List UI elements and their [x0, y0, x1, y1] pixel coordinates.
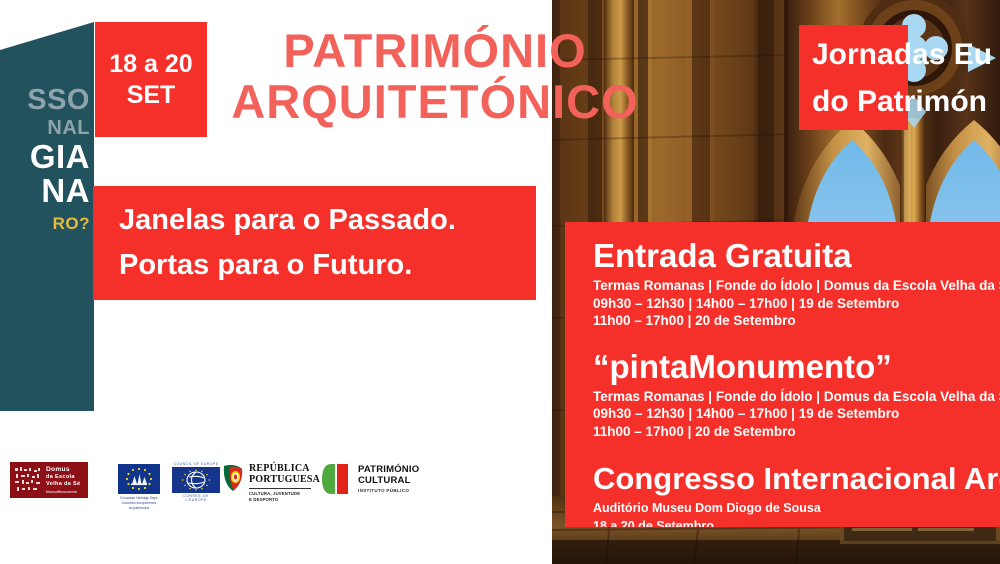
- republica-divider: [249, 488, 311, 489]
- entrada-gratuita-heading: Entrada Gratuita: [593, 238, 1000, 275]
- patrimonio-line-3: INSTITUTO PÚBLICO: [358, 488, 419, 493]
- spacer-1: [593, 330, 1000, 349]
- spacer-2: [593, 440, 1000, 462]
- coe-label-bottom: CONSEIL DE L'EUROPE: [172, 494, 220, 502]
- pintamonumento-hours-2: 11h00 – 17h00 | 20 de Setembro: [593, 423, 1000, 441]
- domus-line-2: da Escola: [46, 474, 80, 481]
- patrimonio-line-1: PATRIMÓNIO: [358, 465, 419, 476]
- republica-logo-text: REPÚBLICA PORTUGUESA CULTURA, JUVENTUDE …: [249, 464, 320, 503]
- portugal-shield-icon: [222, 464, 244, 492]
- republica-line-2: PORTUGUESA: [249, 475, 320, 486]
- logo-domus-escola-velha-da-se: Domus da Escola Velha da Sé Museu/Monume…: [10, 462, 88, 498]
- side-text-line-3: GIA: [0, 140, 90, 174]
- patrimonio-cultural-mark-icon: [322, 464, 352, 494]
- coe-flag-icon: [172, 467, 220, 493]
- main-title-line-2: ARQUITETÓNICO: [110, 77, 760, 128]
- patrimonio-cultural-text: PATRIMÓNIO CULTURAL INSTITUTO PÚBLICO: [358, 465, 419, 493]
- domus-mosaic-icon: [13, 465, 43, 495]
- republica-line-4: E DESPORTO: [249, 497, 320, 503]
- congresso-heading: Congresso Internacional Arqueolog: [593, 462, 1000, 497]
- coe-label-top: COUNCIL OF EUROPE: [172, 462, 220, 466]
- jornadas-line-2: do Patrimón: [812, 79, 1000, 126]
- entrada-venues: Termas Romanas | Fonde do Ídolo | Domus …: [593, 277, 1000, 295]
- logo-council-of-europe: COUNCIL OF EUROPE: [172, 462, 220, 502]
- eu-heritage-caption: European Heritage Days Journées européen…: [118, 496, 160, 511]
- domus-line-1: Domus: [46, 466, 80, 474]
- domus-logo-text: Domus da Escola Velha da Sé Museu/Monume…: [46, 466, 80, 495]
- entrada-hours-2: 11h00 – 17h00 | 20 de Setembro: [593, 312, 1000, 330]
- jornadas-badge-text: Jornadas Eu do Patrimón: [812, 32, 1000, 125]
- partner-logo-row: Domus da Escola Velha da Sé Museu/Monume…: [0, 452, 540, 522]
- logo-republica-portuguesa: REPÚBLICA PORTUGUESA CULTURA, JUVENTUDE …: [222, 464, 320, 503]
- republica-line-1: REPÚBLICA: [249, 464, 320, 475]
- congresso-dates: 18 a 20 de Setembro: [593, 517, 1000, 527]
- logo-european-heritage-days: European Heritage Days Journées européen…: [118, 464, 160, 511]
- side-text-line-2: NAL: [0, 118, 90, 138]
- side-text-line-5: RO?: [0, 215, 90, 232]
- side-text-line-4: NA: [0, 174, 90, 208]
- entrada-hours-1: 09h30 – 12h30 | 14h00 – 17h00 | 19 de Se…: [593, 295, 1000, 313]
- main-title-line-1: PATRIMÓNIO: [110, 26, 760, 77]
- congresso-venue: Auditório Museu Dom Diogo de Sousa: [593, 499, 1000, 517]
- domus-line-4: Museu/Monumento: [46, 490, 80, 494]
- pintamonumento-heading: “pintaMonumento”: [593, 349, 1000, 386]
- pintamonumento-venues: Termas Romanas | Fonde do Ídolo | Domus …: [593, 388, 1000, 406]
- event-info-panel: Entrada Gratuita Termas Romanas | Fonde …: [565, 222, 1000, 527]
- congress-side-text: SSO NAL GIA NA RO?: [0, 86, 90, 233]
- eu-heritage-flag-icon: [118, 464, 160, 494]
- left-teal-panel: SSO NAL GIA NA RO?: [0, 0, 94, 411]
- logo-patrimonio-cultural: PATRIMÓNIO CULTURAL INSTITUTO PÚBLICO: [322, 464, 419, 494]
- poster-canvas: SSO NAL GIA NA RO? PATRIMÓNIO ARQUITETÓN…: [0, 0, 1000, 564]
- pintamonumento-hours-1: 09h30 – 12h30 | 14h00 – 17h00 | 19 de Se…: [593, 405, 1000, 423]
- domus-line-3: Velha da Sé: [46, 481, 80, 488]
- eu-caption-3: du patrimoine: [118, 506, 160, 511]
- jornadas-line-1: Jornadas Eu: [812, 32, 1000, 79]
- patrimonio-line-2: CULTURAL: [358, 476, 419, 487]
- side-text-line-1: SSO: [0, 86, 90, 116]
- slogan-banner: Janelas para o Passado. Portas para o Fu…: [93, 186, 536, 300]
- slogan-line-1: Janelas para o Passado.: [119, 198, 536, 243]
- main-title: PATRIMÓNIO ARQUITETÓNICO: [110, 26, 760, 128]
- slogan-line-2: Portas para o Futuro.: [119, 243, 536, 288]
